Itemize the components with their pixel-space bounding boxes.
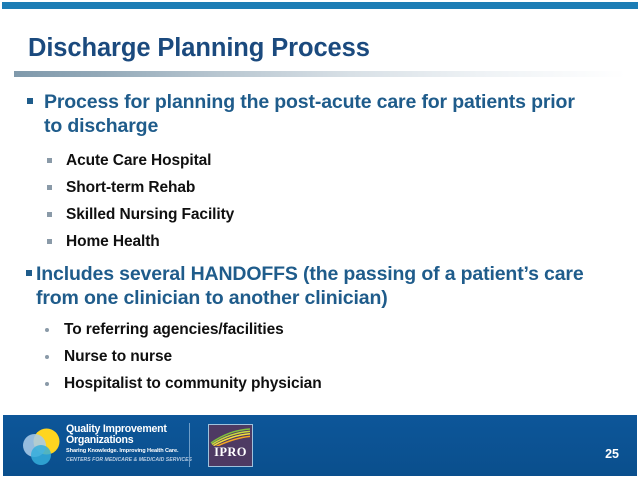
qio-circles-icon — [22, 425, 64, 467]
spacer — [0, 197, 640, 206]
bullet-level2-short-term-rehab: Short-term Rehab — [44, 179, 640, 197]
top-accent-bar — [2, 2, 638, 9]
spacer — [0, 251, 640, 262]
bullet-level1-process-label: Process for planning the post-acute care… — [44, 91, 575, 137]
bullet-level2-label: Acute Care Hospital — [66, 152, 211, 169]
square-bullet-icon — [27, 98, 33, 104]
spacer — [0, 138, 640, 152]
ipro-wordmark: IPRO — [209, 445, 252, 460]
bullet-level2-label: Short-term Rehab — [66, 179, 195, 196]
qio-tagline: Sharing Knowledge. Improving Health Care… — [66, 447, 174, 456]
slide: Discharge Planning Process Process for p… — [0, 0, 640, 480]
spacer — [0, 339, 640, 348]
ipro-swoosh-icon — [209, 426, 252, 446]
bullet-level2-label: Home Health — [66, 233, 160, 250]
slide-body: Process for planning the post-acute care… — [0, 90, 640, 393]
bullet-level3-label: To referring agencies/facilities — [64, 321, 284, 338]
bullet-level1-handoffs: Includes several HANDOFFS (the passing o… — [22, 262, 596, 310]
bullet-level3-hospitalist-to-physician: Hospitalist to community physician — [42, 375, 640, 393]
square-bullet-icon — [47, 239, 52, 244]
page-title: Discharge Planning Process — [28, 34, 370, 63]
slide-footer: Quality Improvement Organizations Sharin… — [3, 415, 637, 476]
spacer — [0, 224, 640, 233]
bullet-level3-nurse-to-nurse: Nurse to nurse — [42, 348, 640, 366]
spacer — [0, 366, 640, 375]
page-number: 25 — [605, 447, 619, 461]
logo-divider — [189, 423, 190, 467]
square-bullet-icon — [26, 270, 32, 276]
qio-agency-line: CENTERS FOR MEDICARE & MEDICAID SERVICES — [66, 456, 174, 464]
bullet-level2-skilled-nursing-facility: Skilled Nursing Facility — [44, 206, 640, 224]
dot-bullet-icon — [45, 382, 49, 386]
bullet-level3-label: Nurse to nurse — [64, 348, 172, 365]
bullet-level3-referring-agencies: To referring agencies/facilities — [42, 321, 640, 339]
bullet-level2-label: Skilled Nursing Facility — [66, 206, 234, 223]
ipro-logo: IPRO — [208, 424, 253, 467]
square-bullet-icon — [47, 158, 52, 163]
dot-bullet-icon — [45, 355, 49, 359]
square-bullet-icon — [47, 212, 52, 217]
qio-logo: Quality Improvement Organizations Sharin… — [22, 420, 174, 470]
bullet-level3-label: Hospitalist to community physician — [64, 375, 322, 392]
square-bullet-icon — [47, 185, 52, 190]
spacer — [0, 170, 640, 179]
qio-line-2: Organizations — [66, 435, 174, 446]
spacer — [0, 310, 640, 321]
bullet-level2-home-health: Home Health — [44, 233, 640, 251]
title-underline-rule — [14, 71, 626, 77]
dot-bullet-icon — [45, 328, 49, 332]
bullet-level2-acute-care-hospital: Acute Care Hospital — [44, 152, 640, 170]
bullet-level1-handoffs-label: Includes several HANDOFFS (the passing o… — [36, 263, 584, 309]
qio-logo-text: Quality Improvement Organizations Sharin… — [66, 424, 174, 464]
bullet-level1-process: Process for planning the post-acute care… — [22, 90, 596, 138]
